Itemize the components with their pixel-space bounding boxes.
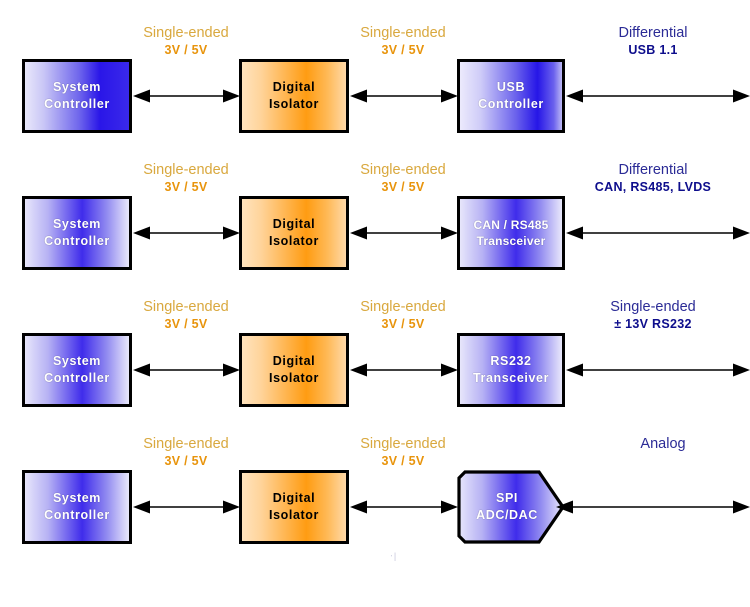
block-label-line2: Controller [44, 507, 110, 524]
block-label-line2: Transceiver [477, 233, 546, 249]
block-label-line1: Digital [273, 79, 315, 96]
link-kind: Single-ended [333, 161, 473, 179]
link-kind: Single-ended [116, 161, 256, 179]
bidirectional-arrow-icon [350, 500, 458, 514]
block-endpoint-rs232-transceiver[interactable]: RS232 Transceiver [457, 333, 565, 407]
bidirectional-arrow-icon [350, 226, 458, 240]
block-label-line2: Isolator [269, 370, 319, 387]
link-detail: 3V / 5V [333, 316, 473, 333]
block-digital-isolator[interactable]: Digital Isolator [239, 59, 349, 133]
bidirectional-arrow-icon [133, 363, 240, 377]
bidirectional-arrow-icon [566, 89, 750, 103]
block-label-line2: ADC/DAC [476, 507, 538, 524]
bidirectional-arrow-icon [350, 89, 458, 103]
block-label-line1: System [53, 490, 101, 507]
block-label-line2: Controller [44, 233, 110, 250]
block-label-line2: Isolator [269, 233, 319, 250]
link-detail: USB 1.1 [578, 42, 728, 59]
image-artifact-text: ‧| [390, 551, 397, 562]
link-detail: 3V / 5V [116, 316, 256, 333]
block-label-line1: Digital [273, 490, 315, 507]
bidirectional-arrow-icon [566, 363, 750, 377]
link-kind: Single-ended [116, 298, 256, 316]
block-label-line2: Isolator [269, 96, 319, 113]
diagram-row-spi-adc-dac: Single-ended 3V / 5V Single-ended 3V / 5… [0, 470, 750, 607]
link-detail: 3V / 5V [333, 179, 473, 196]
link-label-right: Differential USB 1.1 [578, 24, 728, 59]
link-detail: 3V / 5V [116, 42, 256, 59]
link-label-mid: Single-ended 3V / 5V [333, 24, 473, 59]
block-system-controller[interactable]: System Controller [22, 470, 132, 544]
block-label-line1: System [53, 79, 101, 96]
link-kind: Single-ended [116, 24, 256, 42]
bidirectional-arrow-icon [133, 500, 240, 514]
block-system-controller[interactable]: System Controller [22, 333, 132, 407]
block-label-group: SPI ADC/DAC [457, 470, 549, 544]
link-label-right: Differential CAN, RS485, LVDS [578, 161, 728, 196]
block-label-line1: CAN / RS485 [474, 217, 549, 233]
block-endpoint-can-rs485-transceiver[interactable]: CAN / RS485 Transceiver [457, 196, 565, 270]
block-label-line2: Controller [44, 370, 110, 387]
link-detail: CAN, RS485, LVDS [578, 179, 728, 196]
link-detail: ± 13V RS232 [578, 316, 728, 333]
block-digital-isolator[interactable]: Digital Isolator [239, 333, 349, 407]
link-kind: Single-ended [578, 298, 728, 316]
link-kind: Single-ended [333, 24, 473, 42]
link-label-mid: Single-ended 3V / 5V [333, 298, 473, 333]
block-label-line2: Controller [44, 96, 110, 113]
block-label-line1: Digital [273, 216, 315, 233]
link-label-left: Single-ended 3V / 5V [116, 435, 256, 470]
block-label-line1: System [53, 216, 101, 233]
block-endpoint-spi-adc-dac[interactable]: SPI ADC/DAC [457, 470, 565, 544]
block-digital-isolator[interactable]: Digital Isolator [239, 196, 349, 270]
link-kind: Single-ended [333, 435, 473, 453]
block-label-line2: Controller [478, 96, 544, 113]
bidirectional-arrow-icon [350, 363, 458, 377]
bidirectional-arrow-icon [133, 226, 240, 240]
link-kind: Single-ended [116, 435, 256, 453]
link-label-mid: Single-ended 3V / 5V [333, 161, 473, 196]
link-kind: Differential [578, 161, 728, 179]
link-kind: Analog [588, 435, 738, 453]
bidirectional-arrow-icon [566, 226, 750, 240]
link-label-left: Single-ended 3V / 5V [116, 161, 256, 196]
block-label-line2: Isolator [269, 507, 319, 524]
block-label-line2: Transceiver [473, 370, 549, 387]
block-label-line1: SPI [496, 490, 518, 507]
block-endpoint-usb-controller[interactable]: USB Controller [457, 59, 565, 133]
link-label-right: Analog [588, 435, 738, 453]
link-kind: Single-ended [333, 298, 473, 316]
block-label-line1: Digital [273, 353, 315, 370]
link-label-right: Single-ended ± 13V RS232 [578, 298, 728, 333]
link-kind: Differential [578, 24, 728, 42]
link-detail: 3V / 5V [116, 453, 256, 470]
link-detail: 3V / 5V [333, 42, 473, 59]
block-system-controller[interactable]: System Controller [22, 59, 132, 133]
link-label-mid: Single-ended 3V / 5V [333, 435, 473, 470]
link-detail: 3V / 5V [116, 179, 256, 196]
block-digital-isolator[interactable]: Digital Isolator [239, 470, 349, 544]
bidirectional-arrow-icon [133, 89, 240, 103]
link-label-left: Single-ended 3V / 5V [116, 24, 256, 59]
link-detail: 3V / 5V [333, 453, 473, 470]
block-label-line1: System [53, 353, 101, 370]
block-system-controller[interactable]: System Controller [22, 196, 132, 270]
link-label-left: Single-ended 3V / 5V [116, 298, 256, 333]
block-label-line1: RS232 [490, 353, 531, 370]
diagram-canvas: Single-ended 3V / 5V Single-ended 3V / 5… [0, 0, 750, 561]
block-label-line1: USB [497, 79, 525, 96]
bidirectional-arrow-icon [556, 500, 750, 514]
